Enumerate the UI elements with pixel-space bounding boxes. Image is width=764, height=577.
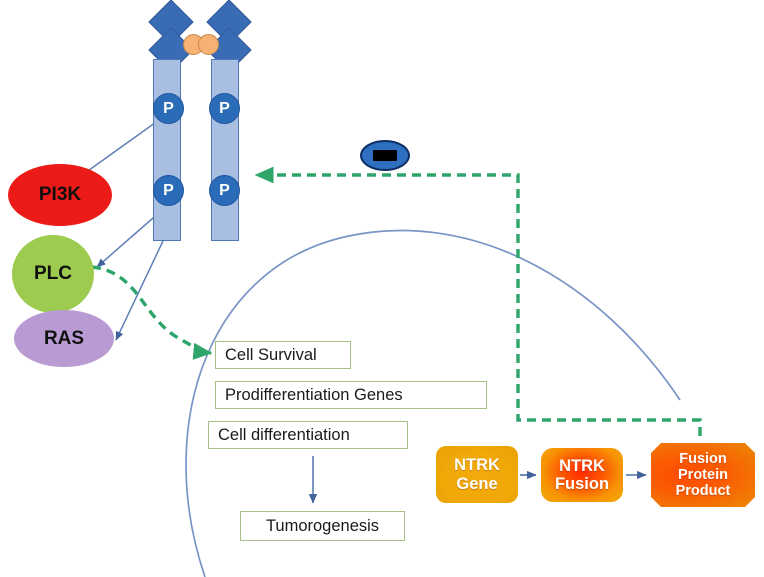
- phospho-site-right-lower: P: [209, 175, 240, 206]
- ntrk-fusion-line2: Fusion: [555, 475, 609, 493]
- effector-pi3k[interactable]: PI3K: [8, 164, 112, 226]
- inhibition-marker-icon: [360, 140, 410, 171]
- ntrk-gene-box[interactable]: NTRK Gene: [436, 446, 518, 503]
- effector-plc[interactable]: PLC: [12, 235, 94, 313]
- phospho-site-left-upper: P: [153, 93, 184, 124]
- receptor-bar-right: [211, 59, 239, 241]
- ntrk-gene-line2: Gene: [456, 475, 497, 493]
- connector-layer: [0, 0, 764, 577]
- fusion-product-line1: Fusion: [679, 451, 727, 467]
- phospho-site-right-upper: P: [209, 93, 240, 124]
- ntrk-fusion-line1: NTRK: [559, 457, 605, 475]
- outcome-cell-survival[interactable]: Cell Survival: [215, 341, 351, 369]
- ntrk-fusion-box[interactable]: NTRK Fusion: [541, 448, 623, 502]
- outcome-tumorogenesis[interactable]: Tumorogenesis: [240, 511, 405, 541]
- fusion-product-line2: Protein: [678, 467, 728, 483]
- effector-ras[interactable]: RAS: [14, 310, 114, 367]
- outcome-cell-differentiation[interactable]: Cell differentiation: [208, 421, 408, 449]
- fusion-product-line3: Product: [676, 483, 731, 499]
- ntrk-gene-line1: NTRK: [454, 456, 500, 474]
- receptor-bar-left: [153, 59, 181, 241]
- pathway-diagram-canvas: P P P P PI3K PLC RAS Cell Survival Prodi…: [0, 0, 764, 577]
- minus-sign-icon: [373, 150, 397, 161]
- fusion-protein-product-box[interactable]: Fusion Protein Product: [651, 443, 755, 507]
- ligand-circle-icon: [198, 34, 219, 55]
- phospho-site-left-lower: P: [153, 175, 184, 206]
- outcome-prodifferentiation-genes[interactable]: Prodifferentiation Genes: [215, 381, 487, 409]
